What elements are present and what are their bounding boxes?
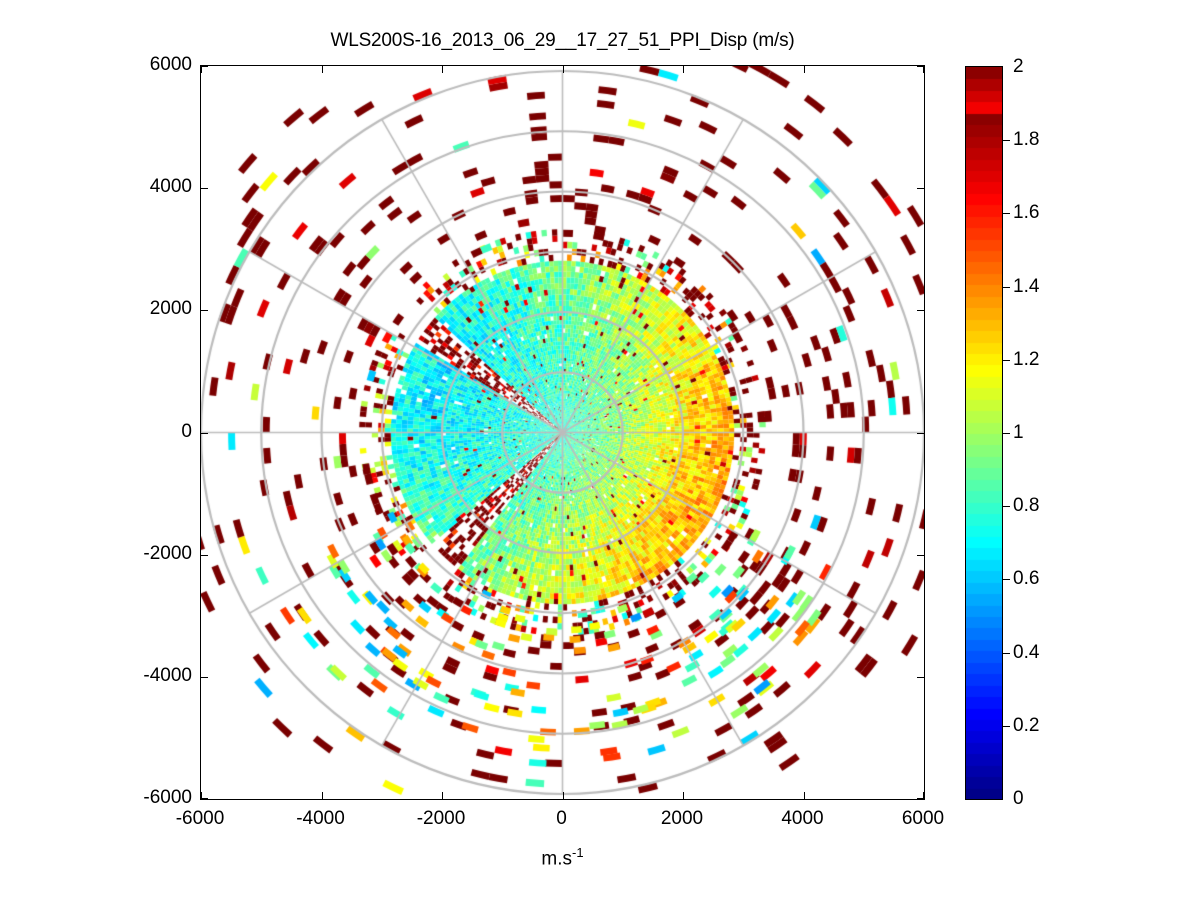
figure-canvas: WLS200S-16_2013_06_29__17_27_51_PPI_Disp… (0, 0, 1201, 901)
colorbar-tick-label: 0 (1013, 788, 1024, 810)
y-tick-label: -4000 (72, 665, 192, 687)
colorbar-tick-label: 1 (1013, 422, 1024, 444)
axis-tick-mark (917, 310, 924, 311)
axis-tick-mark (683, 66, 684, 73)
x-axis-label-exponent: -1 (572, 845, 584, 860)
axis-tick-mark (442, 792, 443, 799)
axis-tick-mark (804, 792, 805, 799)
axis-tick-mark (442, 66, 443, 73)
colorbar-tick-mark (1003, 726, 1010, 727)
axis-tick-mark (322, 792, 323, 799)
x-tick-label: 0 (492, 808, 632, 830)
colorbar-tick-label: 0.4 (1013, 642, 1039, 664)
axis-tick-mark (201, 792, 202, 799)
axis-tick-mark (201, 66, 208, 67)
axis-tick-mark (563, 66, 564, 73)
colorbar-gradient (966, 67, 1002, 799)
axis-tick-mark (201, 555, 208, 556)
axis-tick-mark (563, 792, 564, 799)
colorbar-tick-mark (1003, 287, 1010, 288)
colorbar-tick-mark (1003, 653, 1010, 654)
colorbar-tick-label: 2 (1013, 56, 1024, 78)
colorbar-tick-label: 1.4 (1013, 276, 1039, 298)
axis-tick-mark (923, 66, 924, 73)
y-tick-label: -2000 (72, 543, 192, 565)
axis-tick-mark (322, 66, 323, 73)
colorbar-tick-label: 1.2 (1013, 349, 1039, 371)
colorbar-tick-mark (1003, 360, 1010, 361)
colorbar-tick-label: 0.2 (1013, 715, 1039, 737)
axis-tick-mark (917, 188, 924, 189)
colorbar-tick-mark (1003, 433, 1010, 434)
colorbar-tick-label: 1.8 (1013, 129, 1039, 151)
colorbar-tick-mark (1003, 506, 1010, 507)
x-tick-label: -4000 (251, 808, 391, 830)
x-axis-tick-labels: -6000-4000-20000200040006000 (200, 808, 925, 838)
x-tick-label: 2000 (612, 808, 752, 830)
y-axis-tick-labels: -6000-4000-20000200040006000 (60, 65, 192, 800)
x-tick-label: 6000 (853, 808, 993, 830)
colorbar (965, 66, 1003, 800)
colorbar-tick-label: 0.8 (1013, 495, 1039, 517)
y-tick-label: 4000 (72, 176, 192, 198)
colorbar-tick-mark (1003, 140, 1010, 141)
x-tick-label: 4000 (733, 808, 873, 830)
x-tick-label: -6000 (130, 808, 270, 830)
axis-tick-mark (201, 310, 208, 311)
axis-tick-mark (804, 66, 805, 73)
ppi-scan-heatmap (201, 66, 924, 799)
colorbar-tick-mark (1003, 579, 1010, 580)
axis-tick-mark (917, 433, 924, 434)
colorbar-tick-mark (1003, 213, 1010, 214)
y-tick-label: 0 (72, 421, 192, 443)
axis-tick-mark (201, 798, 208, 799)
colorbar-tick-label: 0.6 (1013, 568, 1039, 590)
x-axis-label: m.s-1 (200, 845, 925, 870)
axis-tick-mark (917, 555, 924, 556)
axis-tick-mark (683, 792, 684, 799)
plot-title: WLS200S-16_2013_06_29__17_27_51_PPI_Disp… (200, 30, 925, 52)
x-tick-label: -2000 (371, 808, 511, 830)
y-tick-label: 6000 (72, 54, 192, 76)
plot-axes (200, 65, 925, 800)
y-tick-label: -6000 (72, 787, 192, 809)
y-tick-label: 2000 (72, 298, 192, 320)
colorbar-tick-labels: 21.81.61.41.210.80.60.40.20 (1003, 66, 1073, 800)
axis-tick-mark (201, 66, 202, 73)
colorbar-tick-label: 1.6 (1013, 202, 1039, 224)
axis-tick-mark (923, 792, 924, 799)
axis-tick-mark (201, 188, 208, 189)
axis-tick-mark (201, 433, 208, 434)
axis-tick-mark (201, 677, 208, 678)
x-axis-label-base: m.s (541, 848, 572, 869)
axis-tick-mark (917, 677, 924, 678)
